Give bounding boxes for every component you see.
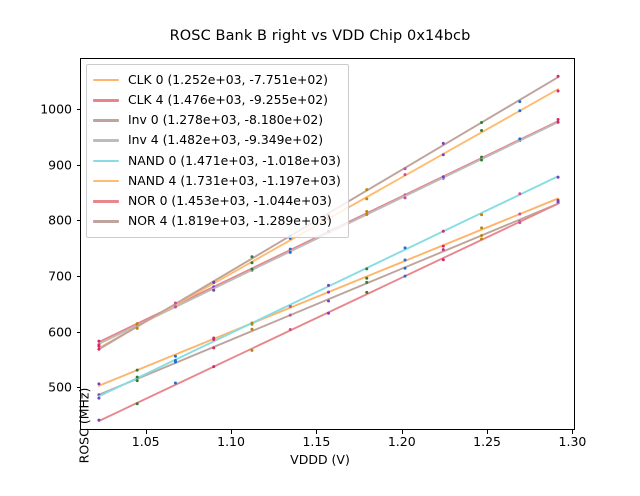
- matplotlib-figure: ROSC Bank B right vs VDD Chip 0x14bcb 50…: [0, 0, 640, 480]
- data-point-marker: [404, 275, 407, 278]
- data-point-marker: [212, 281, 215, 284]
- data-point-marker: [97, 397, 100, 400]
- x-tick-mark: [146, 430, 147, 434]
- y-tick-label: 900: [26, 157, 72, 172]
- data-point-marker: [250, 321, 253, 324]
- data-point-marker: [174, 355, 177, 358]
- data-point-marker: [480, 213, 483, 216]
- data-point-marker: [557, 75, 560, 78]
- x-tick-label: 1.10: [201, 434, 261, 449]
- data-point-marker: [404, 246, 407, 249]
- data-point-marker: [136, 322, 139, 325]
- data-point-marker: [97, 419, 100, 422]
- data-point-marker: [365, 210, 368, 213]
- legend-item[interactable]: Inv 4 (1.482e+03, -9.349e+02): [93, 131, 341, 151]
- legend-color-swatch: [93, 220, 119, 223]
- y-tick-label: 600: [26, 324, 72, 339]
- data-point-marker: [97, 382, 100, 385]
- data-point-marker: [136, 376, 139, 379]
- data-point-marker: [97, 348, 100, 351]
- data-point-marker: [557, 121, 560, 124]
- legend-item[interactable]: NAND 0 (1.471e+03, -1.018e+03): [93, 151, 341, 171]
- legend-item[interactable]: Inv 0 (1.278e+03, -8.180e+02): [93, 110, 341, 130]
- data-point-marker: [404, 258, 407, 261]
- data-point-marker: [480, 226, 483, 229]
- data-point-marker: [442, 153, 445, 156]
- data-point-marker: [136, 327, 139, 330]
- data-point-marker: [404, 167, 407, 170]
- legend-item-label: NOR 4 (1.819e+03, -1.289e+03): [128, 215, 332, 227]
- data-point-marker: [327, 284, 330, 287]
- data-point-marker: [327, 300, 330, 303]
- data-point-marker: [97, 345, 100, 348]
- data-point-marker: [518, 100, 521, 103]
- y-tick-label: 1000: [26, 102, 72, 117]
- legend-color-swatch: [93, 180, 119, 183]
- data-point-marker: [518, 213, 521, 216]
- data-point-marker: [365, 188, 368, 191]
- x-tick-mark: [572, 430, 573, 434]
- legend-item[interactable]: CLK 0 (1.252e+03, -7.751e+02): [93, 70, 341, 90]
- page-title: ROSC Bank B right vs VDD Chip 0x14bcb: [0, 28, 640, 44]
- legend-item-label: CLK 4 (1.476e+03, -9.255e+02): [128, 94, 328, 106]
- legend-item-label: NAND 0 (1.471e+03, -1.018e+03): [128, 155, 341, 167]
- y-tick-mark: [77, 165, 81, 166]
- legend-color-swatch: [93, 99, 119, 102]
- y-tick-mark: [77, 332, 81, 333]
- x-tick-label: 1.15: [286, 434, 346, 449]
- data-point-marker: [442, 248, 445, 251]
- data-point-marker: [136, 369, 139, 372]
- data-point-marker: [289, 251, 292, 254]
- data-point-marker: [365, 291, 368, 294]
- data-point-marker: [480, 234, 483, 237]
- data-point-marker: [174, 359, 177, 362]
- legend-color-swatch: [93, 200, 119, 203]
- data-point-marker: [557, 89, 560, 92]
- data-point-marker: [442, 230, 445, 233]
- legend-item-label: Inv 0 (1.278e+03, -8.180e+02): [128, 114, 323, 126]
- y-axis-label-wrap: ROSC (MHz): [60, 174, 80, 314]
- legend-item[interactable]: NOR 0 (1.453e+03, -1.044e+03): [93, 191, 341, 211]
- data-point-marker: [289, 314, 292, 317]
- y-tick-mark: [77, 109, 81, 110]
- data-point-marker: [480, 237, 483, 240]
- data-point-marker: [480, 159, 483, 162]
- chart-legend: CLK 0 (1.252e+03, -7.751e+02)CLK 4 (1.47…: [86, 64, 349, 238]
- data-point-marker: [518, 137, 521, 140]
- x-tick-mark: [487, 430, 488, 434]
- data-point-marker: [174, 305, 177, 308]
- x-tick-mark: [231, 430, 232, 434]
- data-point-marker: [250, 268, 253, 271]
- data-point-marker: [212, 346, 215, 349]
- legend-item[interactable]: NAND 4 (1.731e+03, -1.197e+03): [93, 171, 341, 191]
- legend-item-label: Inv 4 (1.482e+03, -9.349e+02): [128, 134, 323, 146]
- x-tick-mark: [402, 430, 403, 434]
- data-point-marker: [557, 200, 560, 203]
- data-point-marker: [442, 175, 445, 178]
- data-point-marker: [404, 196, 407, 199]
- x-axis-label: VDDD (V): [0, 452, 640, 467]
- data-point-marker: [404, 267, 407, 270]
- data-point-marker: [212, 338, 215, 341]
- data-point-marker: [404, 173, 407, 176]
- data-point-marker: [250, 261, 253, 264]
- data-point-marker: [289, 305, 292, 308]
- x-tick-mark: [316, 430, 317, 434]
- y-tick-label: 500: [26, 380, 72, 395]
- data-point-marker: [365, 197, 368, 200]
- data-point-marker: [97, 340, 100, 343]
- data-point-marker: [250, 349, 253, 352]
- x-tick-label: 1.05: [116, 434, 176, 449]
- data-point-marker: [365, 213, 368, 216]
- data-point-marker: [442, 245, 445, 248]
- data-point-marker: [480, 129, 483, 132]
- data-point-marker: [365, 281, 368, 284]
- legend-item-label: CLK 0 (1.252e+03, -7.751e+02): [128, 74, 328, 86]
- data-point-marker: [174, 381, 177, 384]
- data-point-marker: [518, 109, 521, 112]
- data-point-marker: [250, 328, 253, 331]
- data-point-marker: [518, 192, 521, 195]
- legend-color-swatch: [93, 160, 119, 163]
- data-point-marker: [327, 291, 330, 294]
- data-point-marker: [136, 402, 139, 405]
- data-point-marker: [480, 121, 483, 124]
- data-point-marker: [174, 302, 177, 305]
- legend-item[interactable]: NOR 4 (1.819e+03, -1.289e+03): [93, 211, 341, 231]
- data-point-marker: [289, 328, 292, 331]
- data-point-marker: [250, 255, 253, 258]
- y-axis-label: ROSC (MHz): [77, 356, 92, 496]
- data-point-marker: [442, 142, 445, 145]
- legend-item-label: NOR 0 (1.453e+03, -1.044e+03): [128, 195, 332, 207]
- legend-item[interactable]: CLK 4 (1.476e+03, -9.255e+02): [93, 90, 341, 110]
- data-point-marker: [557, 176, 560, 179]
- x-tick-label: 1.30: [542, 434, 602, 449]
- data-point-marker: [442, 258, 445, 261]
- data-point-marker: [365, 267, 368, 270]
- x-tick-label: 1.20: [372, 434, 432, 449]
- data-point-marker: [365, 277, 368, 280]
- data-point-marker: [136, 379, 139, 382]
- legend-item-label: NAND 4 (1.731e+03, -1.197e+03): [128, 175, 341, 187]
- data-point-marker: [557, 118, 560, 121]
- data-point-marker: [327, 312, 330, 315]
- x-tick-label: 1.25: [457, 434, 517, 449]
- data-point-marker: [212, 289, 215, 292]
- legend-color-swatch: [93, 79, 119, 82]
- data-point-marker: [518, 221, 521, 224]
- legend-color-swatch: [93, 119, 119, 122]
- legend-color-swatch: [93, 139, 119, 142]
- data-point-marker: [212, 365, 215, 368]
